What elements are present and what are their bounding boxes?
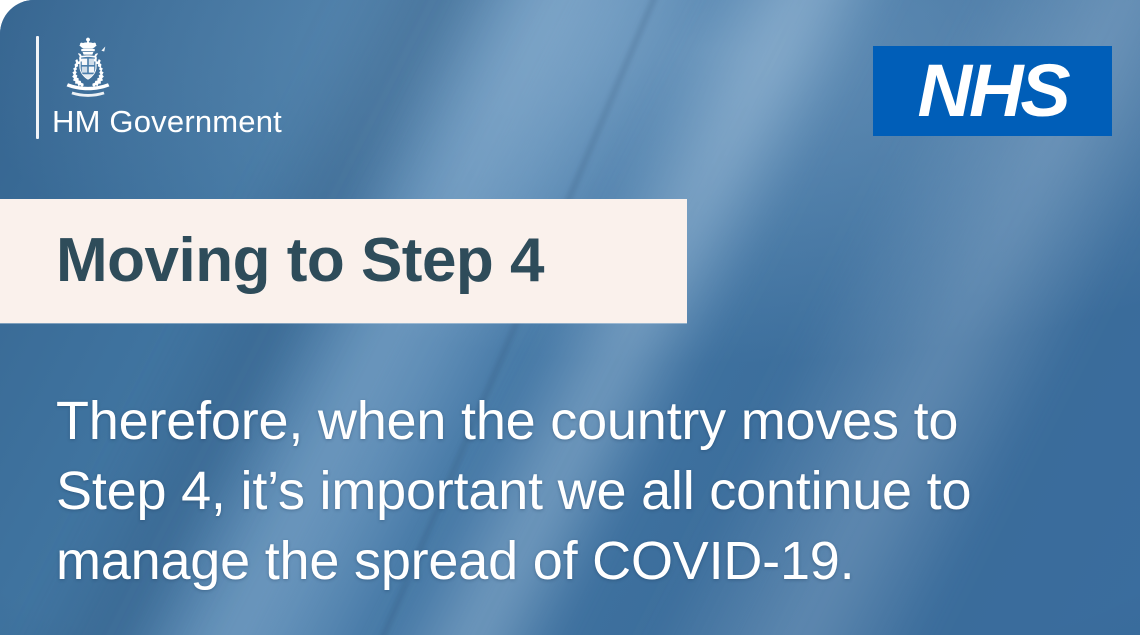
body-line: manage the spread of COVID-19. <box>56 526 1096 596</box>
royal-coat-of-arms-icon <box>52 36 282 102</box>
nhs-logo: NHS <box>873 46 1112 136</box>
hm-government-rule <box>36 36 39 139</box>
headline-title: Moving to Step 4 <box>56 229 544 293</box>
body-line: Therefore, when the country moves to <box>56 386 1096 456</box>
body-line: Step 4, it’s important we all continue t… <box>56 456 1096 526</box>
headline-banner: Moving to Step 4 <box>0 199 687 323</box>
body-copy: Therefore, when the country moves to Ste… <box>56 386 1096 596</box>
slide-canvas: HM Government NHS Moving to Step 4 There… <box>0 0 1140 635</box>
nhs-wordmark: NHS <box>917 54 1067 128</box>
hm-government-logo: HM Government <box>36 36 282 139</box>
hm-government-stack: HM Government <box>52 36 282 139</box>
hm-government-wordmark: HM Government <box>52 105 282 139</box>
